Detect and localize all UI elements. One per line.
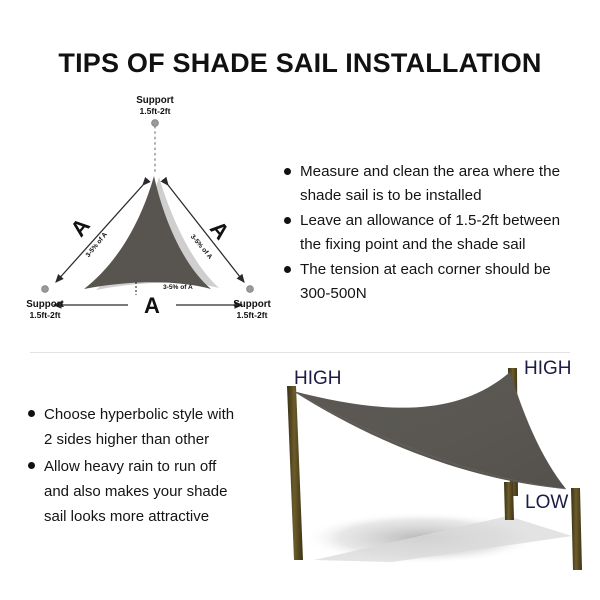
list-item-text: The tension at each corner should be 300…	[300, 258, 551, 305]
list-item-line: 2 sides higher than other	[44, 427, 234, 452]
post-middle-front	[504, 482, 514, 520]
side-note-bottom: 3-5% of A	[163, 284, 193, 291]
sail-fabric-hyperbolic	[293, 372, 566, 489]
bullet-dot-icon	[284, 266, 291, 273]
list-item: Measure and clean the area where the sha…	[284, 160, 600, 207]
list-item-text: Allow heavy rain to run off and also mak…	[44, 454, 227, 529]
side-letter-bottom: A	[144, 293, 160, 318]
list-item-line: The tension at each corner should be	[300, 258, 551, 282]
list-item-line: 300-500N	[300, 282, 551, 306]
list-item-line: Choose hyperbolic style with	[44, 402, 234, 427]
anchor-dot-top	[152, 120, 159, 127]
tips-list-right: Measure and clean the area where the sha…	[284, 160, 600, 307]
list-item-text: Measure and clean the area where the sha…	[300, 160, 560, 207]
support-label-top: Support	[136, 95, 174, 106]
page-title: TIPS OF SHADE SAIL INSTALLATION	[0, 48, 600, 79]
list-item-line: Allow heavy rain to run off	[44, 454, 227, 479]
tips-list-left: Choose hyperbolic style with 2 sides hig…	[28, 402, 288, 531]
post-label-low: LOW	[525, 492, 568, 513]
support-sub-bottom-left: 1.5ft-2ft	[29, 310, 60, 320]
list-item-line: the fixing point and the shade sail	[300, 233, 560, 257]
list-item-text: Leave an allowance of 1.5-2ft between th…	[300, 209, 560, 256]
infographic-page: TIPS OF SHADE SAIL INSTALLATION	[0, 0, 600, 600]
list-item: Leave an allowance of 1.5-2ft between th…	[284, 209, 600, 256]
post-label-right-high: HIGH	[524, 358, 572, 379]
bullet-dot-icon	[284, 168, 291, 175]
support-sub-bottom-right: 1.5ft-2ft	[236, 310, 267, 320]
side-letter-right: A	[205, 216, 234, 244]
triangular-shade-sail-diagram: Support 1.5ft-2ft Support 1.5ft-2ft Supp…	[18, 92, 286, 342]
list-item-line: Leave an allowance of 1.5-2ft between	[300, 209, 560, 233]
bullet-dot-icon	[28, 410, 35, 417]
support-sub-top: 1.5ft-2ft	[139, 106, 170, 116]
bullet-dot-icon	[284, 217, 291, 224]
anchor-dot-bottom-left	[42, 286, 49, 293]
post-right-low	[571, 488, 582, 570]
hyperbolic-shade-sail-diagram: HIGH HIGH LOW	[272, 356, 600, 600]
list-item-line: sail looks more attractive	[44, 504, 227, 529]
support-label-bottom-left: Support	[26, 299, 64, 310]
bullet-dot-icon	[28, 462, 35, 469]
post-left-high	[287, 386, 303, 560]
section-divider	[30, 352, 570, 353]
support-label-bottom-right: Support	[233, 299, 271, 310]
list-item: Choose hyperbolic style with 2 sides hig…	[28, 402, 288, 452]
post-label-left-high: HIGH	[294, 368, 342, 389]
list-item: Allow heavy rain to run off and also mak…	[28, 454, 288, 529]
list-item-line: and also makes your shade	[44, 479, 227, 504]
list-item-line: Measure and clean the area where the	[300, 160, 560, 184]
list-item: The tension at each corner should be 300…	[284, 258, 600, 305]
side-letter-left: A	[65, 213, 94, 241]
list-item-text: Choose hyperbolic style with 2 sides hig…	[44, 402, 234, 452]
list-item-line: shade sail is to be installed	[300, 184, 560, 208]
anchor-dot-bottom-right	[247, 286, 254, 293]
